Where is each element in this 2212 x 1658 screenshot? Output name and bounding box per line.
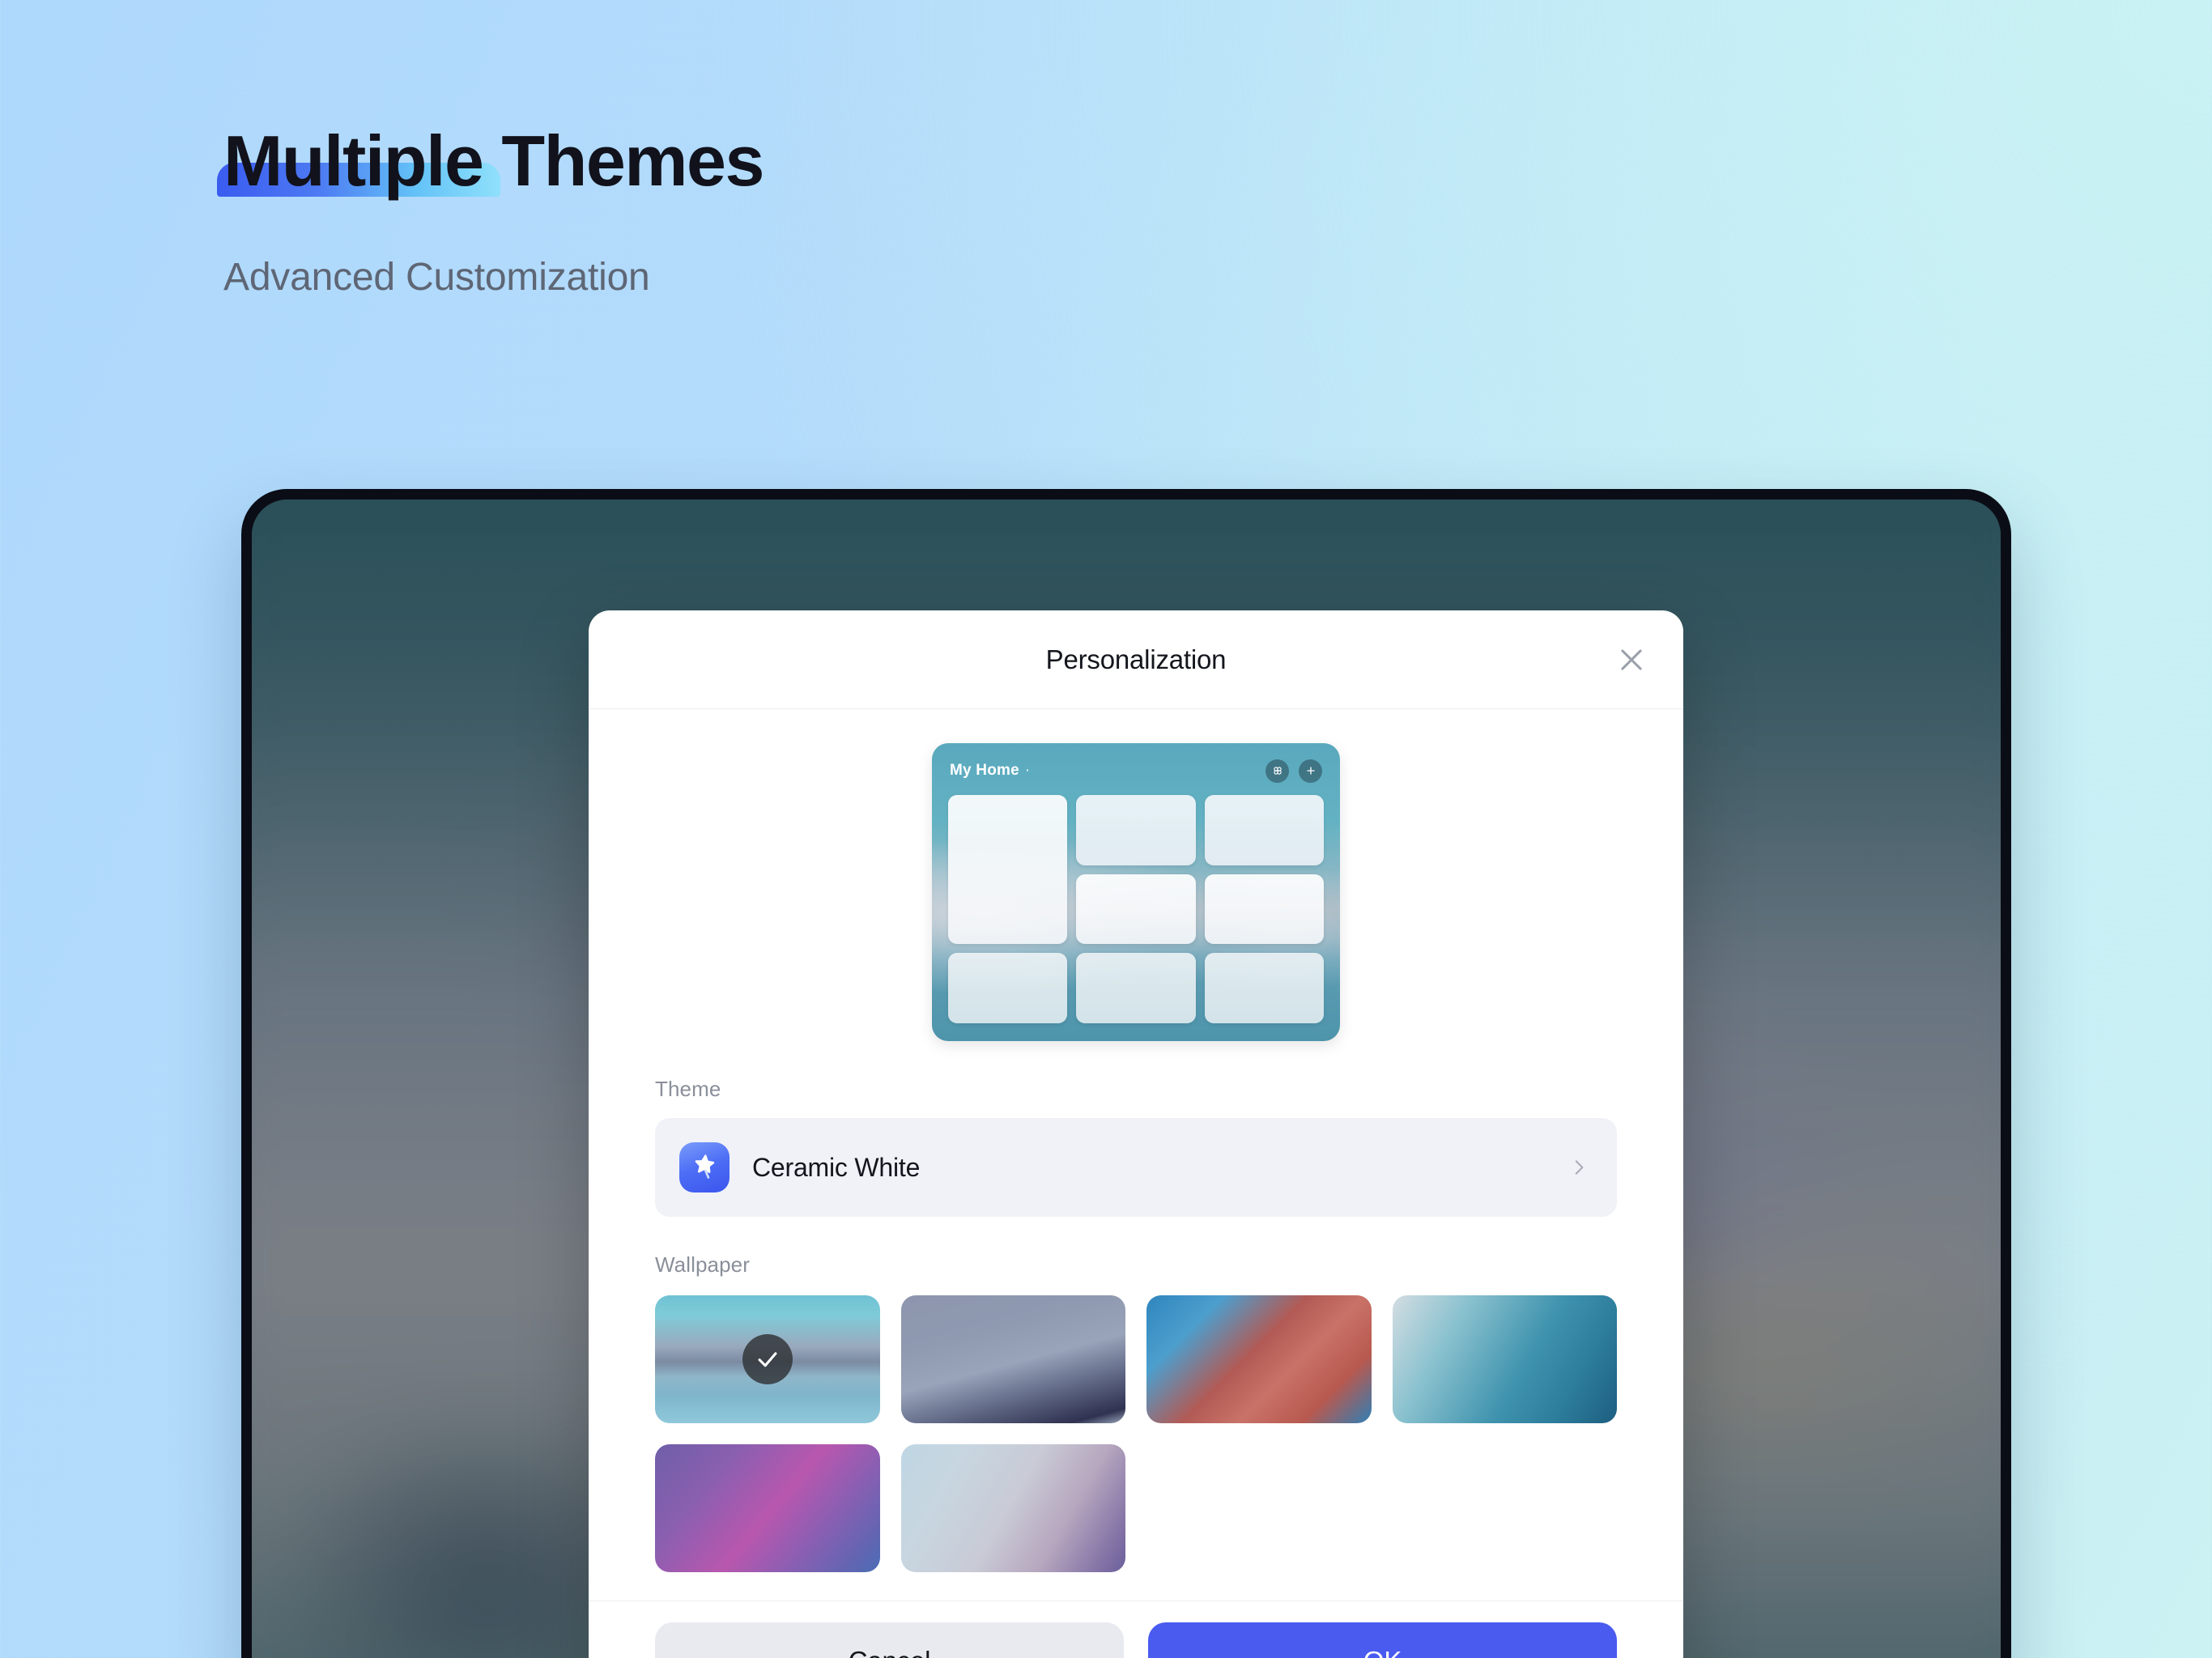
dialog-title: Personalization [1046,644,1227,675]
personalization-dialog: Personalization My Home · [589,610,1683,1658]
cancel-button[interactable]: Cancel [655,1622,1124,1658]
wallpaper-3-coral-wave[interactable] [1146,1295,1372,1423]
theme-selected-name: Ceramic White [752,1153,920,1183]
preview-tile [1076,795,1195,865]
wallpaper-2-dusk-mountain[interactable] [901,1295,1126,1423]
preview-topbar: My Home · [932,743,1340,798]
dialog-header: Personalization [589,610,1683,709]
theme-preview-wrap: My Home · [655,743,1617,1041]
magic-wand-star-icon [679,1142,730,1192]
wallpaper-1-blue-horizon[interactable] [655,1295,880,1423]
preview-tile [1205,795,1324,865]
check-icon [742,1334,793,1384]
page-title: Multiple Themes [223,121,764,202]
preview-actions [1266,759,1322,783]
theme-selector-row[interactable]: Ceramic White [655,1118,1617,1217]
dialog-body: My Home · [589,709,1683,1601]
preview-tile-grid [948,795,1324,1023]
preview-tile [948,953,1067,1023]
tablet-device-frame: Personalization My Home · [241,489,2011,1658]
preview-home-label: My Home [950,762,1019,780]
wallpaper-section-label: Wallpaper [655,1252,1617,1278]
hero-section: Multiple Themes Advanced Customization [223,121,764,300]
hero-title-wrap: Multiple Themes [223,121,764,202]
preview-tile [1076,874,1195,945]
wallpaper-4-teal-fade[interactable] [1393,1295,1618,1423]
preview-tile [1076,953,1195,1023]
close-icon[interactable] [1610,639,1653,681]
page-subtitle: Advanced Customization [223,255,764,300]
preview-tile [1205,953,1324,1023]
apps-grid-icon[interactable] [1266,759,1289,783]
ok-button[interactable]: OK [1148,1622,1617,1658]
plus-icon[interactable] [1299,759,1322,783]
dialog-footer: Cancel OK [589,1601,1683,1658]
preview-home-suffix: · [1025,762,1030,780]
wallpaper-5-violet-mist[interactable] [655,1444,880,1572]
tablet-screen: Personalization My Home · [252,500,2001,1658]
wallpaper-grid [655,1295,1617,1572]
preview-tile [948,795,1067,944]
wallpaper-6-silver-dawn[interactable] [901,1444,1126,1572]
theme-section-label: Theme [655,1077,1617,1102]
preview-tile [1205,874,1324,945]
theme-preview-card: My Home · [932,743,1340,1041]
chevron-right-icon [1568,1157,1589,1178]
